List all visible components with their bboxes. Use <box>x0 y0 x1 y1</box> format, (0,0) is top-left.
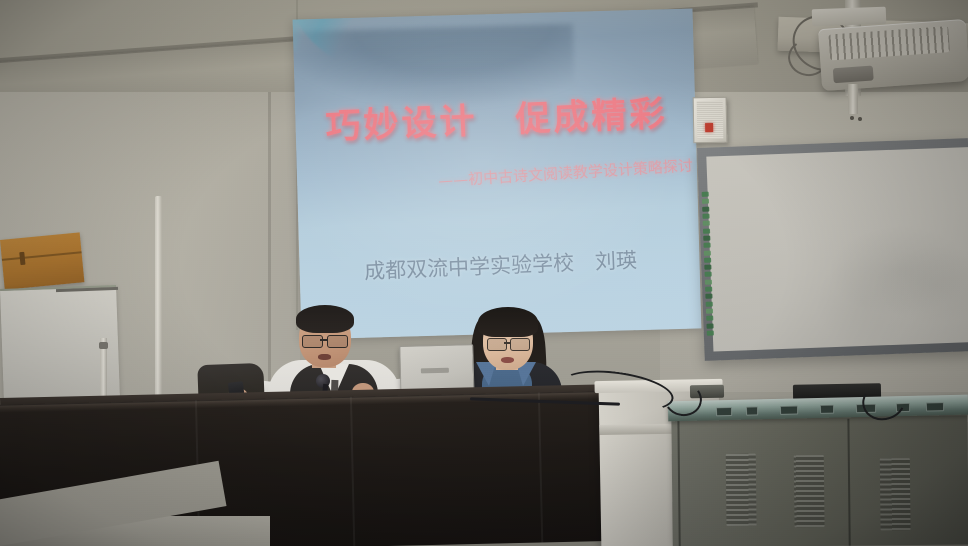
panel-port-icon[interactable] <box>746 406 758 415</box>
pen-tool-icon[interactable] <box>702 192 709 197</box>
mount-screw-icon <box>858 117 862 121</box>
projector-lens <box>833 66 874 84</box>
wooden-wall-panel <box>0 232 84 289</box>
whiteboard-surface[interactable] <box>706 147 968 351</box>
equipment-cabinet[interactable] <box>671 405 968 546</box>
classroom-photo-scene: 巧妙设计 促成精彩 ——初中古诗文阅读教学设计策略探讨 成都双流中学实验学校 刘… <box>0 0 968 546</box>
interactive-whiteboard[interactable] <box>697 138 968 361</box>
presentation-slide: 巧妙设计 促成精彩 ——初中古诗文阅读教学设计策略探讨 成都双流中学实验学校 刘… <box>293 8 702 339</box>
glasses-bridge-icon <box>320 339 328 341</box>
projection-screen: 巧妙设计 促成精彩 ——初中古诗文阅读教学设计策略探讨 成都双流中学实验学校 刘… <box>293 8 702 339</box>
cabinet-door-seam <box>677 420 680 546</box>
wall-seam <box>268 92 271 422</box>
whiteboard-smudges <box>706 147 968 351</box>
cabinet-vent-icon <box>880 458 911 530</box>
stand-adjust-knob[interactable] <box>99 342 108 349</box>
highlighter-tool-icon[interactable] <box>702 206 709 211</box>
curtain-tool-icon[interactable] <box>705 294 712 299</box>
wall-speaker-alarm <box>693 97 728 144</box>
color-tool-icon[interactable] <box>706 309 713 314</box>
panel-port-icon[interactable] <box>780 405 798 414</box>
laptop-logo <box>421 368 449 374</box>
cabinet-vent-icon <box>726 454 757 526</box>
presenter-left-mouth <box>318 354 331 360</box>
help-tool-icon[interactable] <box>706 323 713 328</box>
capture-tool-icon[interactable] <box>705 279 712 284</box>
power-tool-icon[interactable] <box>707 330 714 335</box>
page-tool-icon[interactable] <box>704 265 711 270</box>
panel-port-icon[interactable] <box>820 405 834 414</box>
panel-port-icon[interactable] <box>716 407 732 416</box>
glasses-icon <box>327 335 348 348</box>
presenter-right-head <box>483 312 533 370</box>
zoom-tool-icon[interactable] <box>706 301 713 306</box>
eraser-tool-icon[interactable] <box>702 199 709 204</box>
slide-subtitle: ——初中古诗文阅读教学设计策略探讨 <box>333 155 694 198</box>
select-tool-icon[interactable] <box>703 228 710 233</box>
cabinet-door-seam <box>847 419 850 546</box>
glasses-bridge-icon <box>504 342 511 344</box>
desk-seam <box>350 397 355 546</box>
cabinet-vent-icon <box>794 455 825 527</box>
shape-tool-icon[interactable] <box>702 214 709 219</box>
projector-post <box>848 84 858 114</box>
glasses-icon <box>302 335 323 348</box>
ceiling-projector <box>818 19 968 91</box>
line-tool-icon[interactable] <box>703 221 710 226</box>
slide-presenter-line: 成都双流中学实验学校 刘瑛 <box>293 241 702 289</box>
panel-seam <box>2 251 82 260</box>
keyboard-tool-icon[interactable] <box>704 250 711 255</box>
speaker-indicator-led <box>705 123 713 132</box>
speaker-grille-icon <box>697 101 724 139</box>
mount-screw-icon <box>850 116 854 120</box>
undo-tool-icon[interactable] <box>703 235 710 240</box>
panel-latch-icon[interactable] <box>19 252 25 265</box>
projector-mount-plate <box>812 7 887 27</box>
redo-tool-icon[interactable] <box>703 243 710 248</box>
spotlight-tool-icon[interactable] <box>705 287 712 292</box>
presenter-left-hair <box>296 305 354 333</box>
settings-tool-icon[interactable] <box>706 316 713 321</box>
panel-port-icon[interactable] <box>926 402 944 411</box>
wall-conduit-pipe <box>155 196 162 426</box>
projector-vent-grille <box>828 26 950 60</box>
presenter-right-mouth <box>501 357 514 363</box>
glasses-icon <box>510 338 530 351</box>
text-tool-icon[interactable] <box>704 257 711 262</box>
glasses-icon <box>487 338 507 351</box>
save-tool-icon[interactable] <box>705 272 712 277</box>
presenter-left-head <box>299 309 351 367</box>
presenter-right-hair <box>478 307 538 337</box>
desk-seam <box>538 393 543 543</box>
